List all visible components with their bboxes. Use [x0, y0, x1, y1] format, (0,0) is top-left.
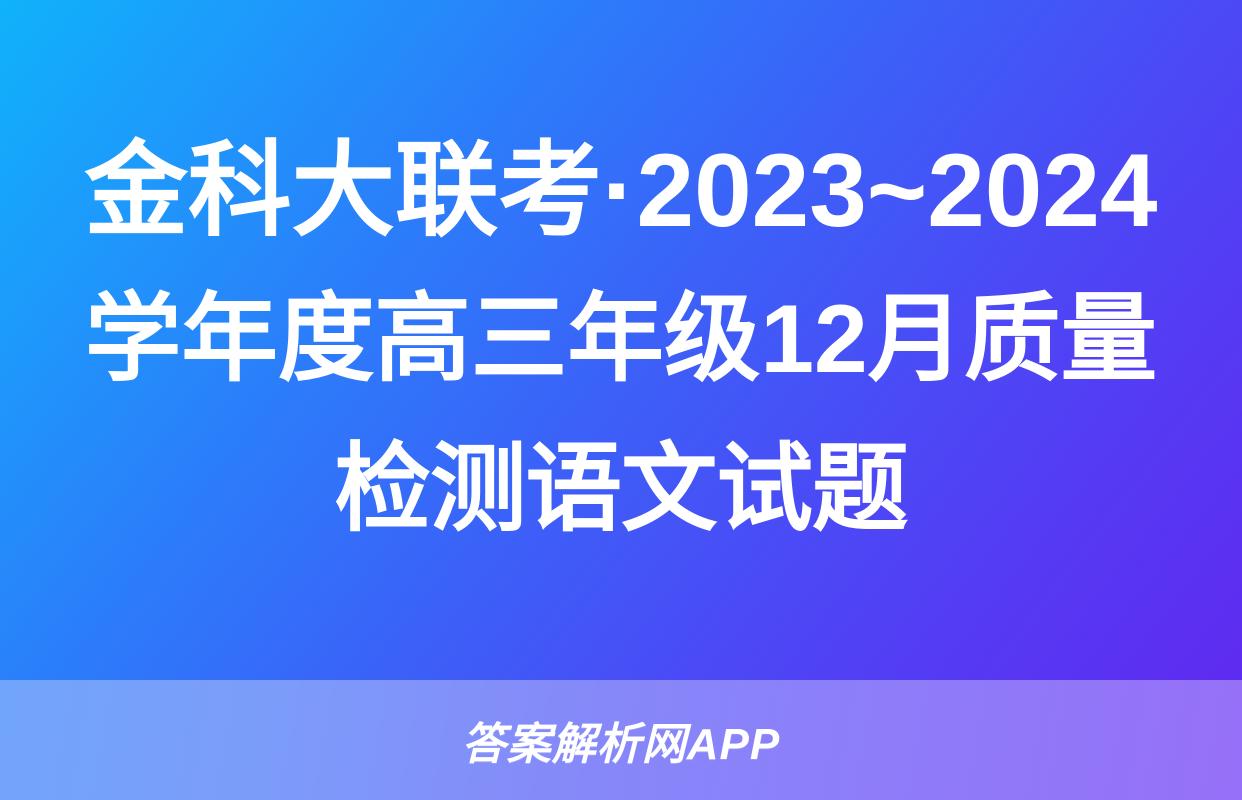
hero-banner: 金科大联考·2023~2024 学年度高三年级12月质量 检测语文试题 [0, 0, 1242, 680]
page-title: 金科大联考·2023~2024 学年度高三年级12月质量 检测语文试题 [84, 115, 1159, 565]
title-line-1: 金科大联考·2023~2024 [84, 115, 1159, 265]
title-line-3: 检测语文试题 [84, 415, 1159, 565]
footer-band: 答案解析网APP [0, 680, 1242, 800]
title-line-2: 学年度高三年级12月质量 [84, 265, 1159, 415]
watermark-brand-label: 答案解析网APP [462, 708, 780, 772]
exam-title-card: 金科大联考·2023~2024 学年度高三年级12月质量 检测语文试题 答案解析… [0, 0, 1242, 800]
